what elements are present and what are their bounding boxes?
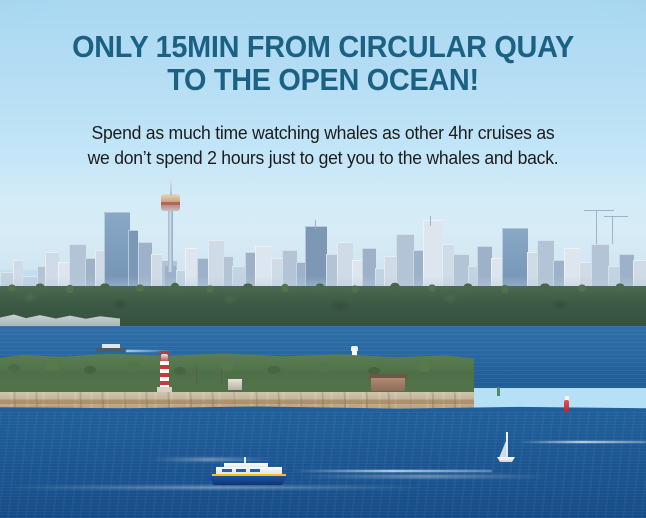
ferry-window-b — [236, 469, 246, 472]
ocean-ripple-band — [150, 458, 270, 461]
subtitle-text: Spend as much time watching whales as ot… — [16, 120, 630, 170]
ferry-wake-spread — [300, 475, 550, 478]
hornby-lighthouse — [160, 361, 169, 389]
foreground-ocean — [0, 412, 646, 518]
page-title: ONLY 15MIN FROM CIRCULAR QUAY TO THE OPE… — [23, 30, 624, 96]
sailboat-wake — [518, 441, 646, 443]
headland-cottage — [371, 378, 405, 391]
lighthouse-base — [157, 387, 172, 392]
lighthouse-hut — [228, 379, 242, 390]
sailboat-hull — [497, 457, 515, 462]
green-buoy — [497, 387, 500, 396]
utility-pole-a — [196, 366, 197, 384]
ferry-wake-main — [292, 470, 492, 472]
ferry-window-c — [250, 469, 260, 472]
promo-banner: ONLY 15MIN FROM CIRCULAR QUAY TO THE OPE… — [0, 0, 646, 518]
ferry-hull — [208, 476, 288, 485]
sydney-tower-ring — [161, 202, 180, 205]
sydney-tower-spire — [170, 176, 172, 196]
distant-ferry — [96, 344, 128, 352]
sailboat — [494, 432, 520, 464]
passenger-ferry — [208, 462, 294, 488]
utility-pole-b — [221, 368, 222, 384]
red-channel-buoy — [564, 400, 569, 412]
ferry-window-a — [222, 469, 232, 472]
